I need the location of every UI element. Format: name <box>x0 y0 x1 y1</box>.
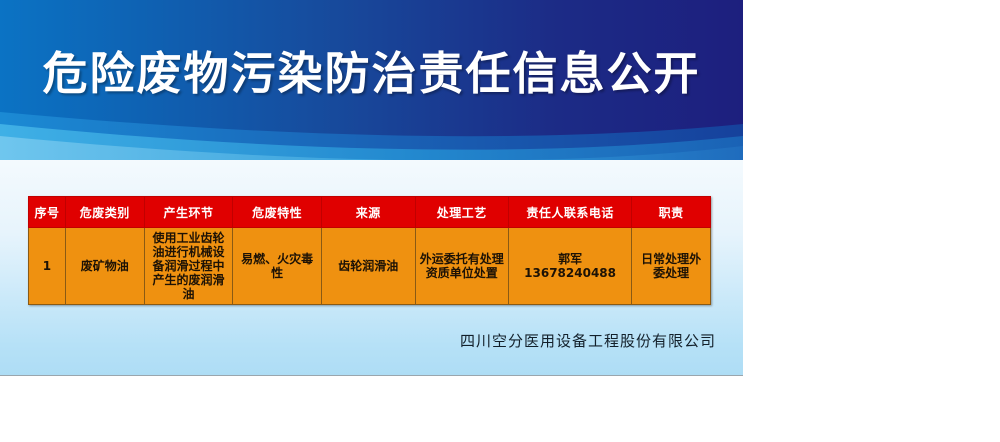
contact-name: 郭军 <box>512 252 628 266</box>
cell-property: 易燃、火灾毒性 <box>233 228 322 305</box>
column-header-contact: 责任人联系电话 <box>509 197 632 228</box>
cell-contact: 郭军 13678240488 <box>509 228 632 305</box>
banner-header: 危险废物污染防治责任信息公开 <box>0 0 743 160</box>
cell-stage: 使用工业齿轮油进行机械设备润滑过程中产生的废润滑油 <box>144 228 233 305</box>
poster-container: 危险废物污染防治责任信息公开 序号 危废类别 产生环节 危废特性 来源 处理工艺… <box>0 0 743 375</box>
cell-category: 废矿物油 <box>65 228 144 305</box>
column-header-treatment: 处理工艺 <box>415 197 509 228</box>
contact-phone: 13678240488 <box>512 266 628 280</box>
table-row: 1 废矿物油 使用工业齿轮油进行机械设备润滑过程中产生的废润滑油 易燃、火灾毒性… <box>29 228 711 305</box>
cell-source: 齿轮润滑油 <box>321 228 415 305</box>
page-title: 危险废物污染防治责任信息公开 <box>0 46 743 102</box>
table-header-row: 序号 危废类别 产生环节 危废特性 来源 处理工艺 责任人联系电话 职责 <box>29 197 711 228</box>
column-header-source: 来源 <box>321 197 415 228</box>
cell-treatment: 外运委托有处理资质单位处置 <box>415 228 509 305</box>
column-header-property: 危废特性 <box>233 197 322 228</box>
column-header-category: 危废类别 <box>65 197 144 228</box>
column-header-stage: 产生环节 <box>144 197 233 228</box>
column-header-index: 序号 <box>29 197 66 228</box>
hazardous-waste-table: 序号 危废类别 产生环节 危废特性 来源 处理工艺 责任人联系电话 职责 1 废… <box>28 196 711 305</box>
cell-duty: 日常处理外委处理 <box>632 228 711 305</box>
company-name: 四川空分医用设备工程股份有限公司 <box>0 330 716 351</box>
cell-index: 1 <box>29 228 66 305</box>
column-header-duty: 职责 <box>632 197 711 228</box>
